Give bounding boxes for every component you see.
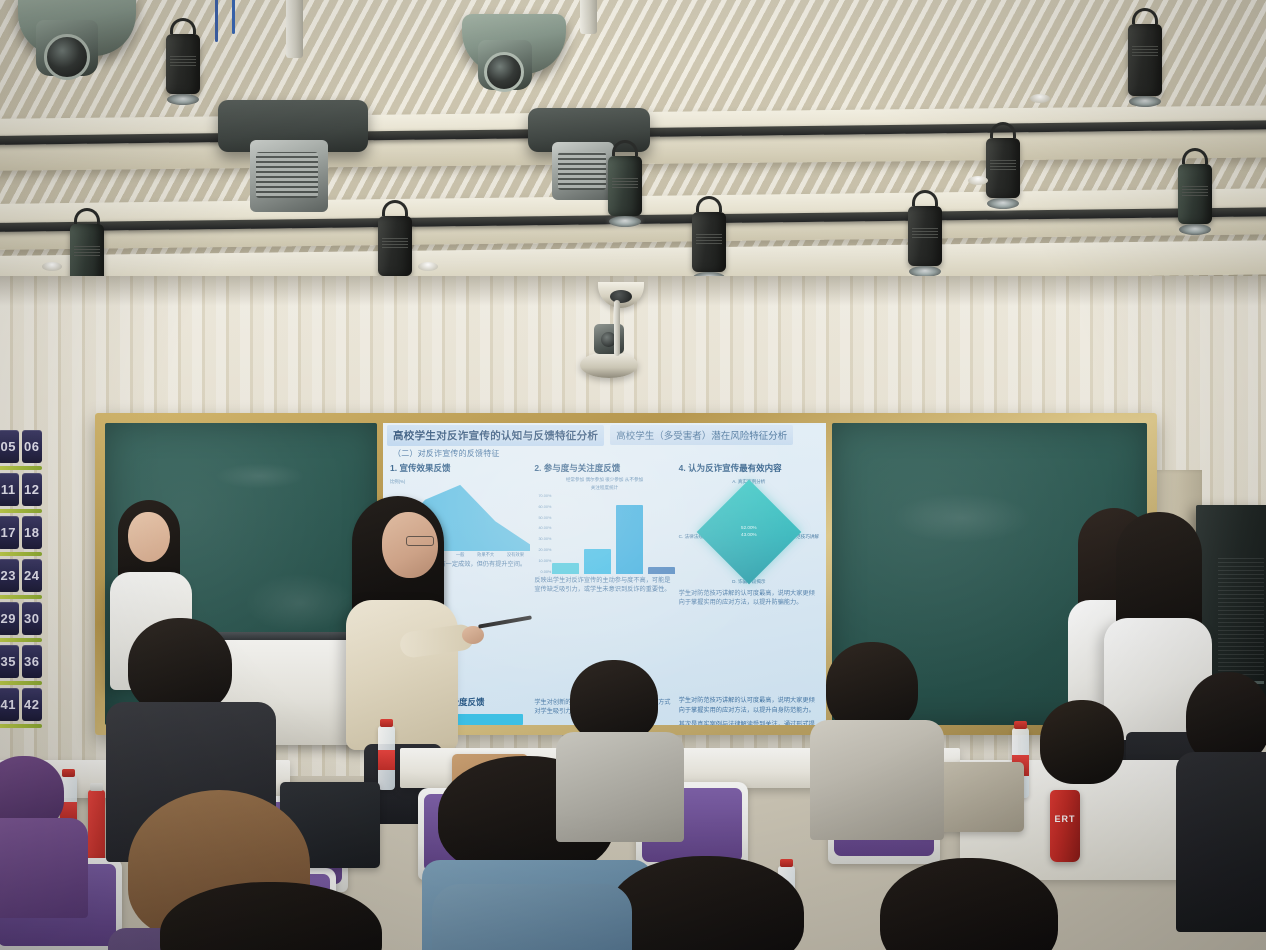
y-tick-label: 60.00%	[534, 505, 551, 509]
chart-radar-content: A. 真实案例分析 78.00% 66.00% 52.00% C. 法律法规解读…	[679, 477, 819, 587]
track-spotlight-icon	[608, 140, 642, 227]
track-spotlight-icon	[986, 122, 1020, 209]
panel-2-note: 反映出学生对反诈宣传的主动参与度不高，可能是宣传缺乏吸引力，或学生未意识到反诈的…	[534, 577, 674, 595]
track-spotlight-icon	[908, 190, 942, 277]
track-spotlight-icon	[1178, 148, 1212, 235]
seat-number-cell: 06	[22, 430, 43, 463]
bar	[584, 549, 611, 574]
panel-4-note: 学生对防范技巧讲解的认可度最高，说明大家更倾向于掌握实用的应对方法，以提升防骗能…	[679, 590, 819, 608]
seat-number-row: 1718	[0, 516, 42, 549]
seat-number-row: 0506	[0, 430, 42, 463]
bar	[648, 567, 675, 574]
audience-member	[570, 660, 666, 800]
slide-subtitle: 高校学生（多受害者）潜在风险特征分析	[610, 425, 793, 445]
audience-member	[432, 884, 632, 950]
camera-mount-pipe	[614, 300, 620, 356]
seat-number-row: 3536	[0, 645, 42, 678]
track-spotlight-icon	[1128, 8, 1162, 107]
seat-number-cell: 12	[22, 473, 43, 506]
chart-2-yticks: 70.00%60.00%50.00%40.00%30.00%20.00%10.0…	[534, 494, 551, 574]
audience-member	[0, 756, 74, 876]
seat-row-divider	[0, 724, 42, 728]
y-tick-label: 40.00%	[534, 526, 551, 530]
ceiling-pipe	[286, 0, 303, 58]
lecture-hall-photo: 0506111217182324293035364142 高校学生对反诈宣传的认…	[0, 0, 1266, 950]
track-spotlight-icon	[692, 196, 726, 283]
ceiling-fixture	[42, 262, 62, 271]
seat-row-divider	[0, 595, 42, 599]
ceiling-fixture	[968, 176, 988, 185]
y-tick-label: 20.00%	[534, 548, 551, 552]
seat-number-cell: 24	[22, 559, 43, 592]
y-tick-label: 50.00%	[534, 516, 551, 520]
seat-number-cell: 42	[22, 688, 43, 721]
seat-number-cell: 23	[0, 559, 19, 592]
chart-1-ylabel: 比例(%)	[390, 479, 405, 485]
ceiling-projector-icon	[218, 100, 368, 152]
y-tick-label: 0.00%	[534, 570, 551, 574]
glasses-icon	[406, 536, 434, 546]
seat-number-row: 2324	[0, 559, 42, 592]
seat-number-row: 2930	[0, 602, 42, 635]
slide-footer-column: 学生对防范技巧讲解的认可度最高，说明大家更倾向于掌握实用的应对方法，以提升自身防…	[679, 696, 819, 725]
wall-camera-icon	[580, 352, 638, 378]
audience-member	[826, 642, 924, 792]
seat-number-cell: 17	[0, 516, 19, 549]
seat-number-cell: 35	[0, 645, 19, 678]
seat-number-cell: 41	[0, 688, 19, 721]
ceiling-fixture	[418, 262, 438, 271]
track-spotlight-icon	[378, 200, 412, 287]
seat-number-cell: 18	[22, 516, 43, 549]
seat-number-cell: 29	[0, 602, 19, 635]
audience-member	[128, 618, 240, 818]
seat-number-cell: 05	[0, 430, 19, 463]
panel-zuiyouxiao-neirong: 4. 认为反诈宣传最有效内容 A. 真实案例分析 78.00% 66.00% 5…	[679, 462, 819, 696]
water-bottle	[88, 790, 105, 864]
slide-header: 高校学生对反诈宣传的认知与反馈特征分析 高校学生（多受害者）潜在风险特征分析	[383, 423, 826, 447]
seat-number-cell: 30	[22, 602, 43, 635]
footer-note-2: 其次是真实案例与法律解读受到关注，通过形式提升。	[679, 720, 819, 725]
seat-row-divider	[0, 466, 42, 470]
bar	[616, 505, 643, 574]
audience-member	[160, 882, 390, 950]
panel-4-heading: 4. 认为反诈宣传最有效内容	[679, 462, 819, 474]
ptz-camera-icon	[18, 0, 136, 56]
panel-1-heading: 1. 宣传效果反馈	[390, 462, 530, 474]
slide-title: 高校学生对反诈宣传的认知与反馈特征分析	[387, 425, 604, 446]
x-tick-label: 没有效果	[507, 552, 524, 558]
ceiling-fixture	[1030, 94, 1050, 103]
seat-number-cell: 36	[22, 645, 43, 678]
audience-member	[608, 856, 818, 950]
slide-section-label: （二）对反诈宣传的反馈特征	[383, 447, 826, 460]
panel-2-heading: 2. 参与度与关注度反馈	[534, 462, 674, 474]
radar-center-values: 52.00%43.00%	[741, 525, 757, 539]
seat-row-divider	[0, 552, 42, 556]
seat-number-row: 1112	[0, 473, 42, 506]
ceiling-cable	[232, 0, 235, 34]
audience-member	[1040, 700, 1130, 860]
chart-2-legend-2: 关注程度统计	[534, 485, 674, 491]
bar	[552, 563, 579, 574]
seat-row-divider	[0, 638, 42, 642]
seat-number-board: 0506111217182324293035364142	[0, 430, 42, 730]
chart-bar-participation: 70.00%60.00%50.00%40.00%30.00%20.00%10.0…	[534, 494, 674, 574]
seat-number-row: 4142	[0, 688, 42, 721]
seat-row-divider	[0, 681, 42, 685]
audience-member	[1186, 672, 1266, 862]
ceiling-cable	[215, 0, 218, 42]
y-tick-label: 30.00%	[534, 537, 551, 541]
chart-2-legend: 经常参加 偶尔参加 很少参加 从不参加	[534, 477, 674, 483]
track-spotlight-icon	[166, 18, 200, 105]
footer-note-1: 学生对防范技巧讲解的认可度最高，说明大家更倾向于掌握实用的应对方法，以提升自身防…	[679, 696, 819, 716]
water-bottle	[378, 726, 395, 790]
seat-number-cell: 11	[0, 473, 19, 506]
ceiling-pipe	[580, 0, 597, 34]
y-tick-label: 70.00%	[534, 494, 551, 498]
audience-member	[880, 858, 1070, 950]
y-tick-label: 10.00%	[534, 559, 551, 563]
seat-row-divider	[0, 509, 42, 513]
